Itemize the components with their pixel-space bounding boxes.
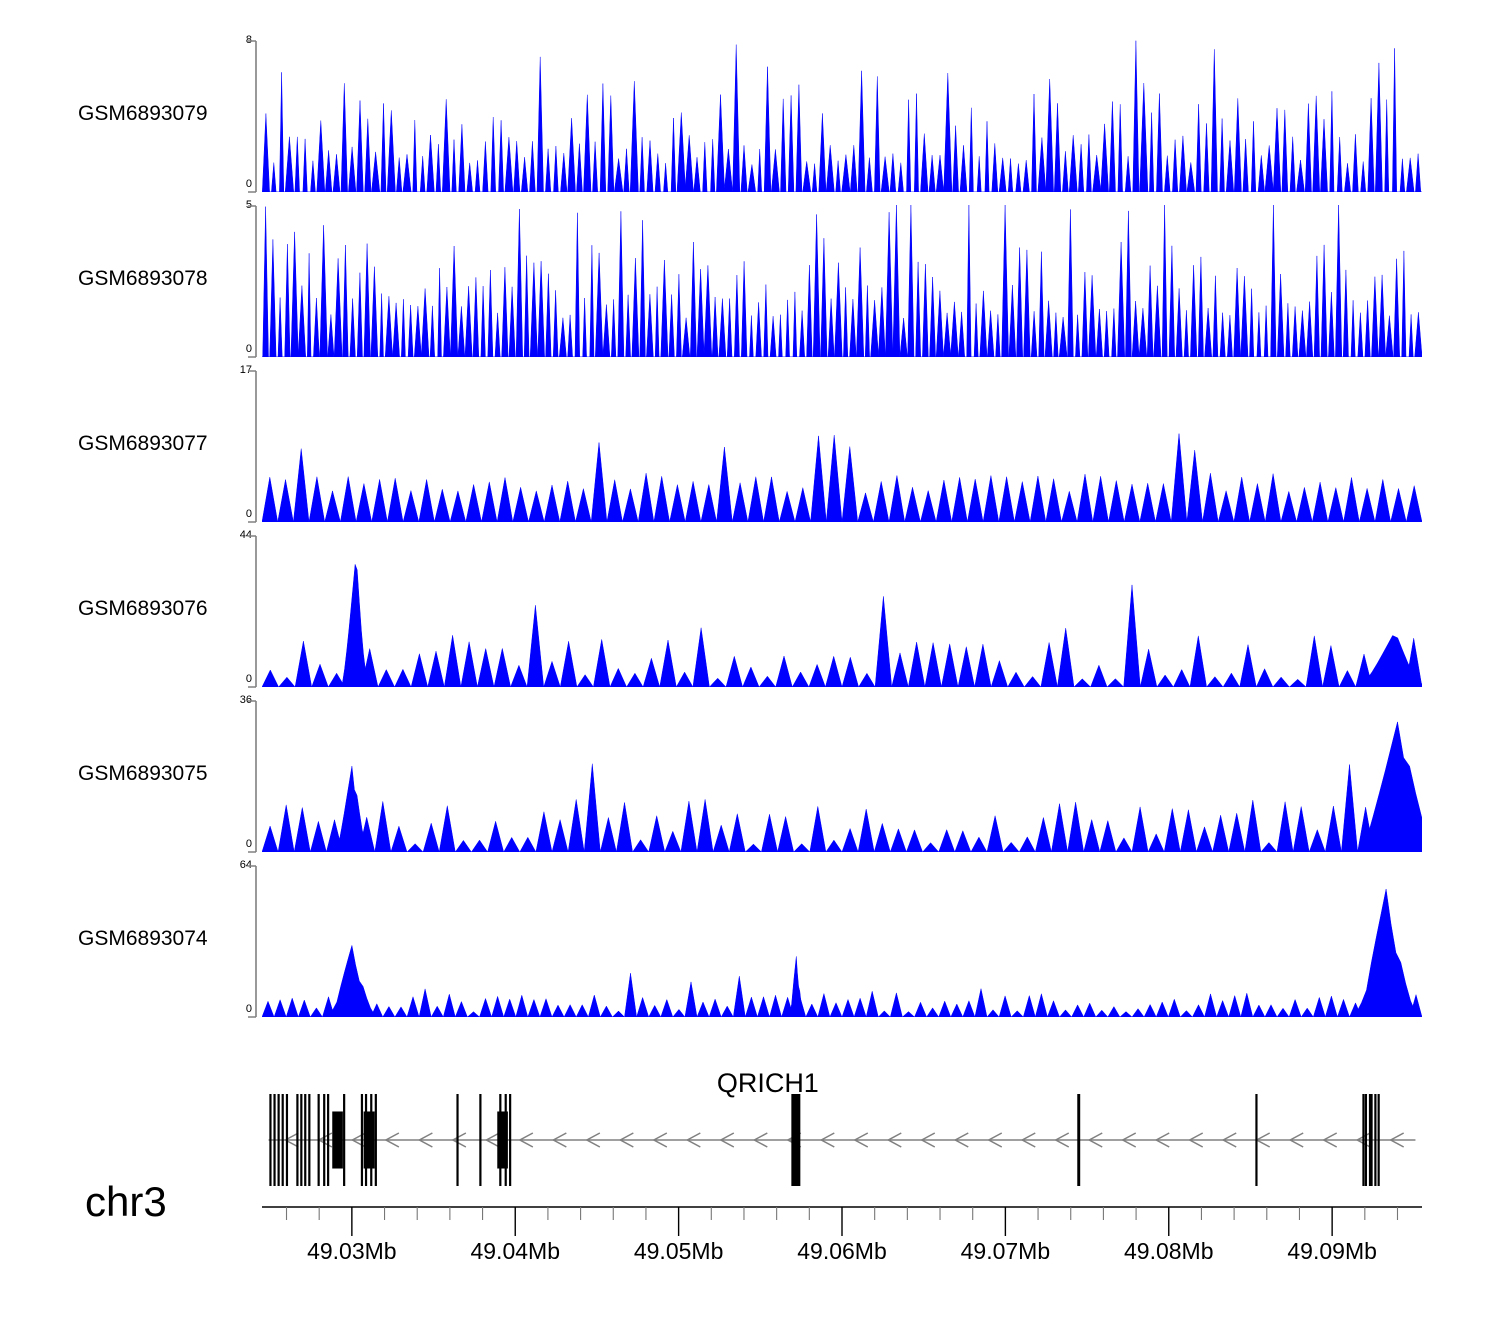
y-axis-bracket — [246, 40, 262, 199]
ruler-tick-label: 49.08Mb — [1124, 1238, 1214, 1265]
ruler-tick-label: 49.07Mb — [961, 1238, 1051, 1265]
ruler-tick-label: 49.03Mb — [307, 1238, 397, 1265]
y-axis-bracket — [246, 700, 262, 859]
gene-model[interactable] — [0, 1068, 1500, 1193]
coverage-track: GSM689307980 — [0, 40, 1500, 192]
ruler-tick-label: 49.09Mb — [1287, 1238, 1377, 1265]
genome-browser-view: GSM689307980GSM689307850GSM6893077170GSM… — [0, 0, 1500, 1320]
coverage-plot[interactable] — [262, 535, 1422, 687]
y-axis-bracket — [246, 535, 262, 694]
track-label-GSM6893079: GSM6893079 — [78, 102, 208, 126]
gene-annotation-track[interactable]: QRICH1 — [0, 1068, 1500, 1188]
coverage-track: GSM6893075360 — [0, 700, 1500, 852]
coverage-track: GSM6893077170 — [0, 370, 1500, 522]
coverage-plot[interactable] — [262, 865, 1422, 1017]
track-label-GSM6893077: GSM6893077 — [78, 432, 208, 456]
coverage-plot[interactable] — [262, 700, 1422, 852]
y-axis-bracket — [246, 205, 262, 364]
coverage-plot[interactable] — [262, 40, 1422, 192]
track-label-GSM6893074: GSM6893074 — [78, 927, 208, 951]
track-label-GSM6893078: GSM6893078 — [78, 267, 208, 291]
coverage-track: GSM6893074640 — [0, 865, 1500, 1017]
track-label-GSM6893076: GSM6893076 — [78, 597, 208, 621]
ruler-tick-label: 49.05Mb — [634, 1238, 724, 1265]
ruler-tick-label: 49.06Mb — [797, 1238, 887, 1265]
ruler-tick-label: 49.04Mb — [470, 1238, 560, 1265]
y-axis-bracket — [246, 865, 262, 1024]
coordinate-ruler[interactable] — [0, 1204, 1500, 1269]
y-axis-bracket — [246, 370, 262, 529]
track-label-GSM6893075: GSM6893075 — [78, 762, 208, 786]
coverage-track: GSM689307850 — [0, 205, 1500, 357]
coverage-plot[interactable] — [262, 205, 1422, 357]
coverage-track: GSM6893076440 — [0, 535, 1500, 687]
coverage-plot[interactable] — [262, 370, 1422, 522]
